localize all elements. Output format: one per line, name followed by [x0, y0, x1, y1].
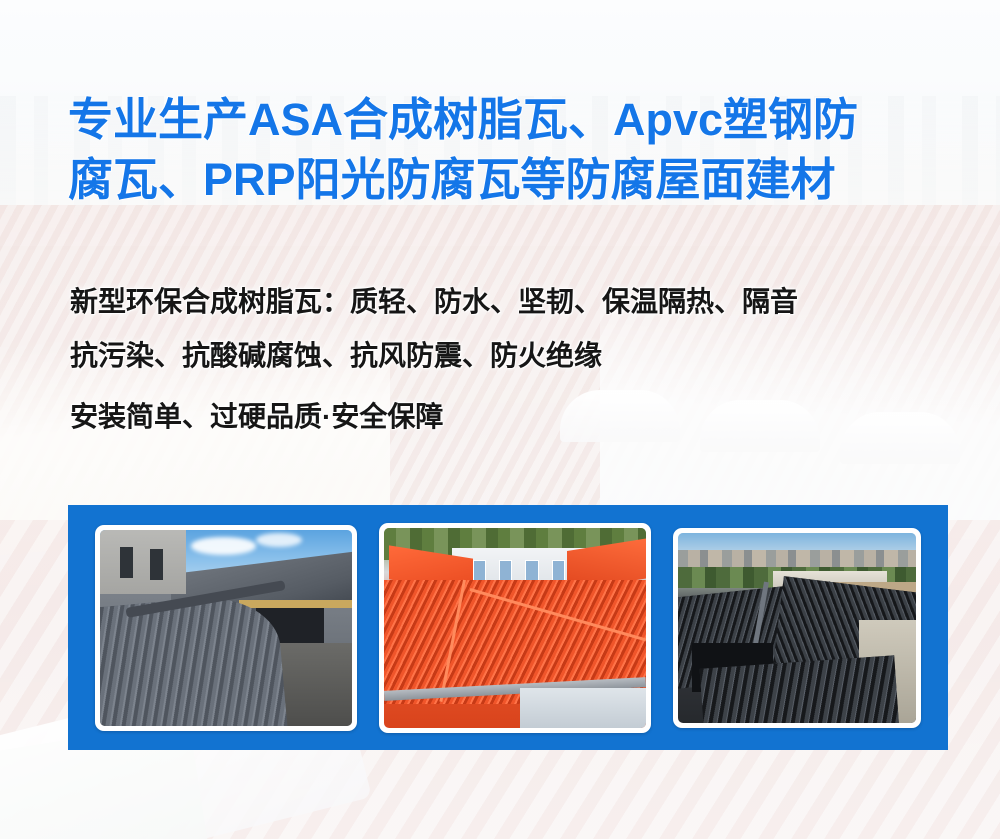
- subtitle-line-2: 抗污染、抗酸碱腐蚀、抗风防震、防火绝缘: [70, 329, 960, 383]
- photo-frame-2[interactable]: [379, 523, 651, 733]
- banner-subtitle: 新型环保合成树脂瓦：质轻、防水、坚韧、保温隔热、隔音 抗污染、抗酸碱腐蚀、抗风防…: [70, 275, 960, 444]
- photo-frame-1[interactable]: [95, 525, 357, 731]
- photo-frame-3[interactable]: [673, 528, 921, 728]
- photo2-window-c: [525, 560, 538, 582]
- product-banner: 专业生产ASA合成树脂瓦、Apvc塑钢防 腐瓦、PRP阳光防腐瓦等防腐屋面建材 …: [0, 0, 1000, 839]
- banner-content: 专业生产ASA合成树脂瓦、Apvc塑钢防 腐瓦、PRP阳光防腐瓦等防腐屋面建材 …: [0, 0, 1000, 839]
- black-resin-tile-roof-photo[interactable]: [678, 533, 916, 723]
- photo1-concrete-wall: [100, 530, 186, 595]
- headline-line-1: 专业生产ASA合成树脂瓦、Apvc塑钢防: [68, 92, 948, 147]
- photo-gallery: [68, 505, 948, 750]
- photo1-window-b: [150, 549, 163, 580]
- headline-line-2: 腐瓦、PRP阳光防腐瓦等防腐屋面建材: [68, 152, 948, 207]
- photo2-window-d: [552, 560, 565, 582]
- subtitle-line-1: 新型环保合成树脂瓦：质轻、防水、坚韧、保温隔热、隔音: [70, 275, 960, 329]
- photo1-cloud-a: [191, 537, 257, 555]
- photo1-eave: [239, 600, 352, 608]
- grey-barrel-tile-roof-photo[interactable]: [100, 530, 352, 726]
- photo2-window-b: [499, 560, 512, 582]
- banner-headline: 专业生产ASA合成树脂瓦、Apvc塑钢防 腐瓦、PRP阳光防腐瓦等防腐屋面建材: [68, 92, 948, 207]
- photo1-cloud-b: [256, 533, 301, 547]
- photo1-window-a: [120, 547, 133, 578]
- red-resin-tile-roof-photo[interactable]: [384, 528, 646, 728]
- subtitle-line-3: 安装简单、过硬品质·安全保障: [70, 390, 960, 444]
- photo2-front-building: [520, 688, 646, 728]
- photo2-window-a: [473, 560, 486, 582]
